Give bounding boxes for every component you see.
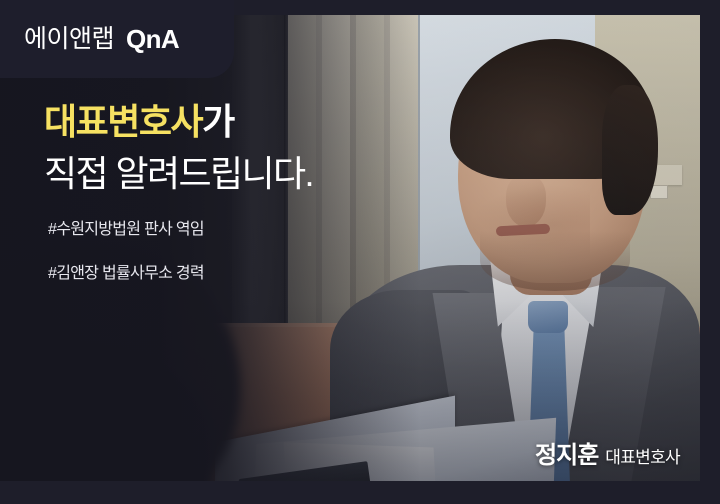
brand-logo-panel[interactable]: 에이앤랩 QnA (0, 0, 234, 78)
hair-sideburn (602, 85, 658, 215)
lawyer-name: 정지훈 (535, 444, 598, 468)
frame-right-bar (700, 0, 720, 504)
headline-suffix: 가 (202, 101, 234, 142)
nose (506, 175, 546, 227)
lawyer-title: 대표변호사 (605, 449, 680, 466)
promo-banner: 에이앤랩 QnA 대표변호사가 직접 알려드립니다. #수원지방법원 판사 역임… (0, 0, 720, 504)
headline-line-2: 직접 알려드립니다. (44, 154, 444, 194)
headline-block: 대표변호사가 직접 알려드립니다. (44, 102, 444, 195)
brand-logo-english: QnA (126, 26, 179, 52)
hashtag-list: #수원지방법원 판사 역임 #김앤장 법률사무소 경력 (48, 222, 368, 282)
hashtag-item: #김앤장 법률사무소 경력 (48, 266, 368, 282)
brand-logo-korean: 에이앤랩 (24, 27, 114, 52)
jaw-shading (480, 231, 630, 291)
headline-highlight: 대표변호사 (44, 101, 202, 142)
hashtag-item: #수원지방법원 판사 역임 (48, 222, 368, 238)
necktie-knot (528, 301, 568, 333)
lawyer-signature: 정지훈 대표변호사 (535, 444, 680, 468)
frame-bottom-bar (0, 481, 720, 504)
headline-line-1: 대표변호사가 (44, 102, 444, 142)
